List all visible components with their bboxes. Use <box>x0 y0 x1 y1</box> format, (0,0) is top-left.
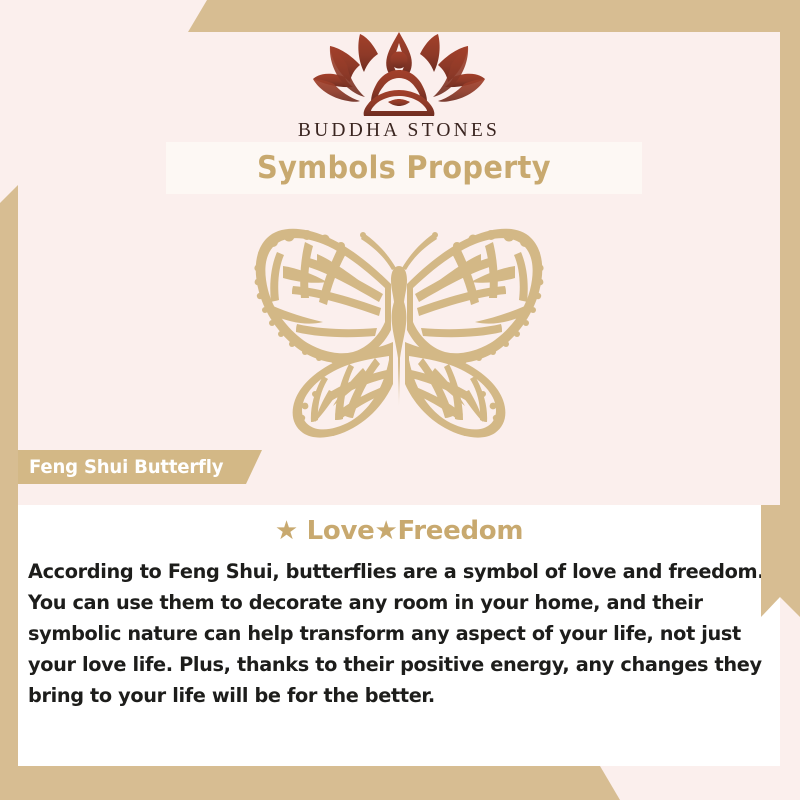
left-border-band <box>0 185 18 800</box>
description-text: According to Feng Shui, butterflies are … <box>18 546 780 711</box>
top-border-band <box>188 0 800 32</box>
right-border-band <box>780 32 800 617</box>
page-title: Symbols Property <box>257 150 551 186</box>
lotus-meditation-figure-logo-icon <box>304 32 494 118</box>
brand-name: BUDDHA STONES <box>18 120 780 142</box>
description-panel: ★ Love★Freedom According to Feng Shui, b… <box>18 505 780 766</box>
brand-logo-block: BUDDHA STONES <box>18 32 780 142</box>
upper-content-card: BUDDHA STONES Symbols Property <box>18 32 780 505</box>
tag-label: Feng Shui Butterfly <box>29 456 223 478</box>
bottom-border-band <box>0 766 620 800</box>
hero-image-wrap <box>18 210 780 440</box>
butterfly-silhouette-icon <box>213 210 585 440</box>
feng-shui-butterfly-tag: Feng Shui Butterfly <box>18 450 262 484</box>
feature-headline: ★ Love★Freedom <box>18 505 780 546</box>
title-banner: Symbols Property <box>166 142 642 194</box>
product-infographic-poster: BUDDHA STONES Symbols Property <box>0 0 800 800</box>
